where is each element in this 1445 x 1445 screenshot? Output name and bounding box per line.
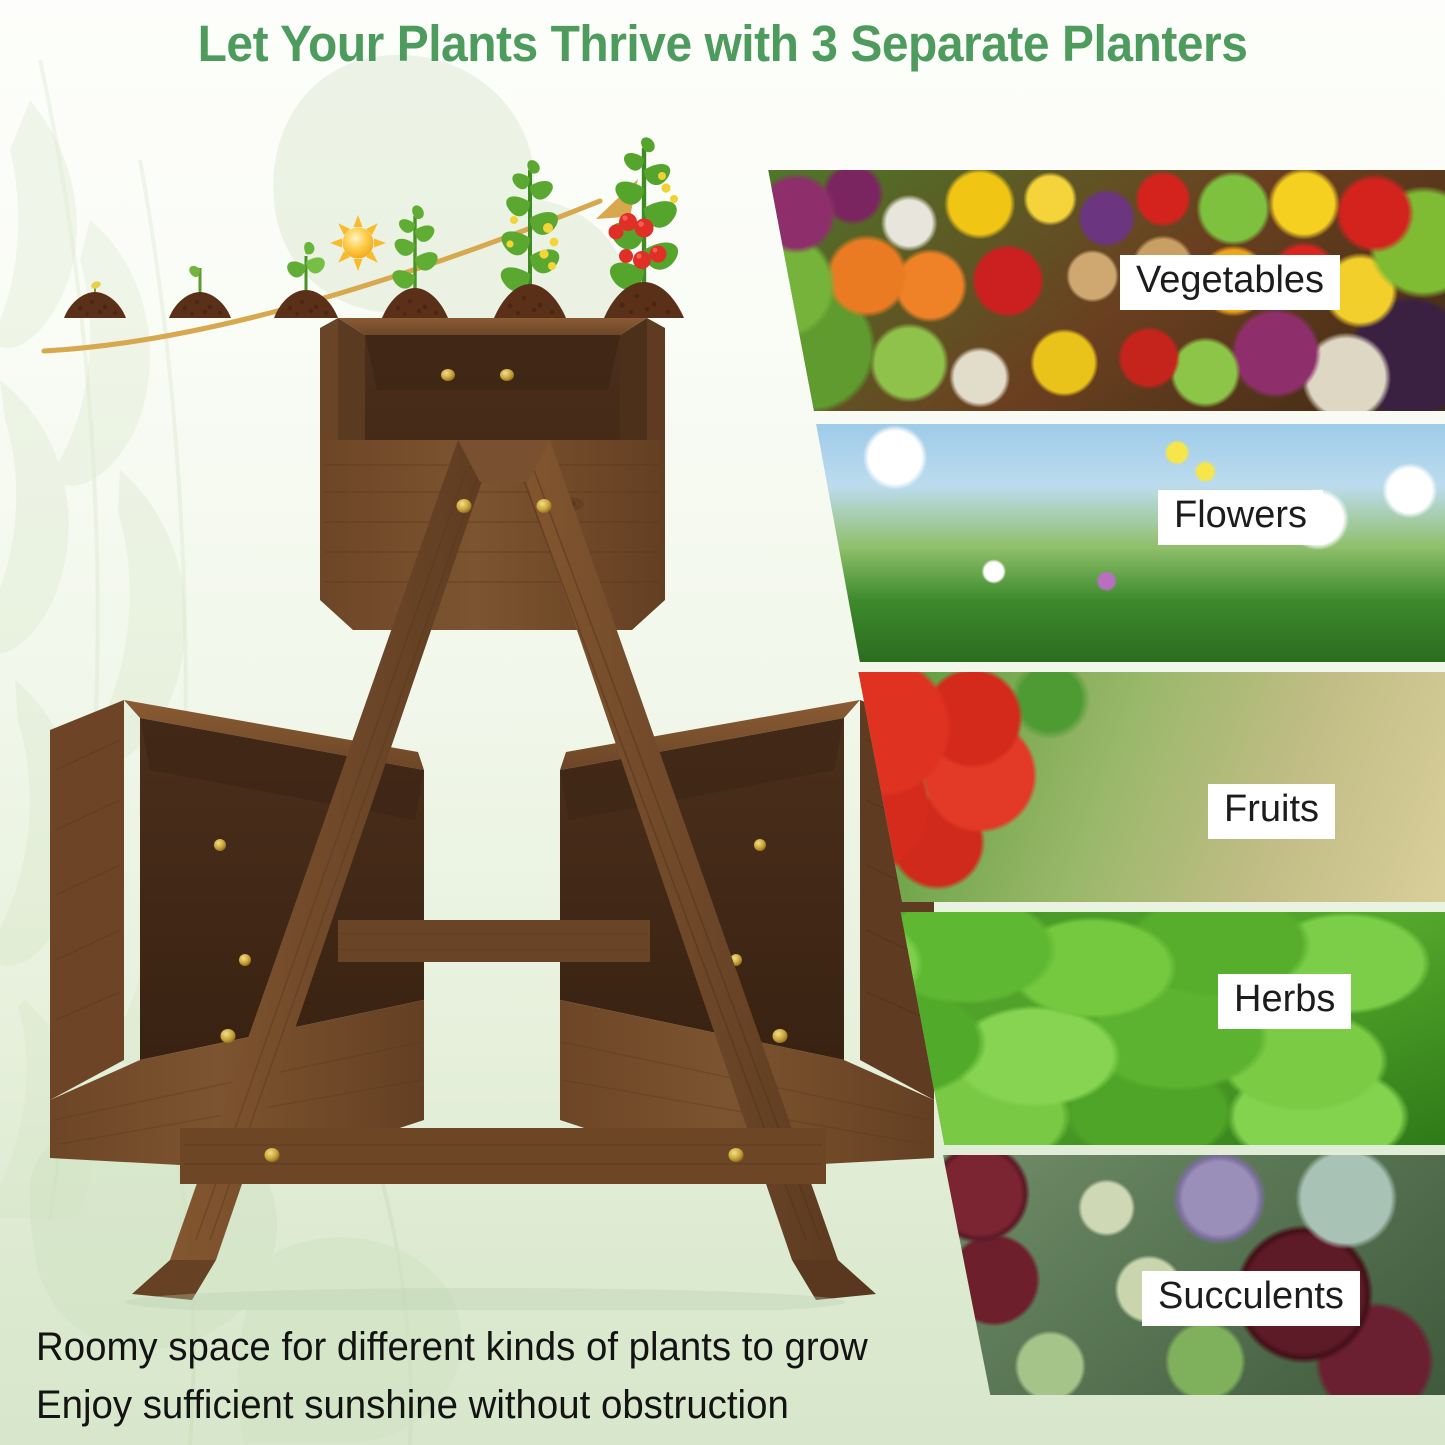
- page-title: Let Your Plants Thrive with 3 Separate P…: [43, 14, 1401, 73]
- caption-line-1: Roomy space for different kinds of plant…: [36, 1325, 868, 1370]
- panel-herbs[interactable]: Herbs: [740, 912, 1445, 1145]
- panel-fruits-label: Fruits: [1208, 784, 1335, 839]
- panel-vegetables[interactable]: Vegetables: [740, 170, 1445, 411]
- panel-fruits-image: [740, 672, 1445, 902]
- plant-category-panels: Vegetables Flowers Fruits Herbs Succulen…: [740, 150, 1445, 1410]
- plant-growth-illustration: [0, 88, 760, 318]
- caption-line-2: Enjoy sufficient sunshine without obstru…: [36, 1383, 789, 1428]
- panel-flowers-label: Flowers: [1158, 490, 1323, 545]
- panel-herbs-label: Herbs: [1218, 974, 1351, 1029]
- panel-flowers[interactable]: Flowers: [740, 424, 1445, 662]
- panel-fruits[interactable]: Fruits: [740, 672, 1445, 902]
- panel-vegetables-label: Vegetables: [1120, 255, 1340, 310]
- product-feature-graphic: Let Your Plants Thrive with 3 Separate P…: [0, 0, 1445, 1445]
- panel-succulents-label: Succulents: [1142, 1271, 1360, 1326]
- growth-stage-fruiting-plant: [588, 136, 700, 318]
- panel-flowers-image: [740, 424, 1445, 662]
- growth-stage-flowering-plant: [480, 156, 580, 318]
